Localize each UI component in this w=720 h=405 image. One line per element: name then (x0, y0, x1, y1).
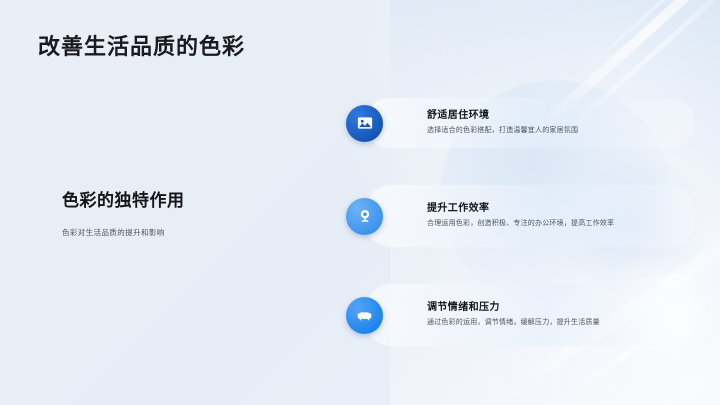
feature-card-title: 提升工作效率 (427, 202, 614, 215)
feature-card[interactable]: 提升工作效率 合理运用色彩，创造积极、专注的办公环境，提高工作效率 (365, 185, 695, 247)
feature-card-title: 调节情绪和压力 (427, 301, 600, 314)
feature-card[interactable]: 舒适居住环境 选择适合的色彩搭配，打造温馨宜人的家居氛围 (365, 98, 695, 148)
background-light-streak (561, 0, 720, 92)
section-heading: 色彩的独特作用 (62, 186, 292, 211)
feature-card-description: 通过色彩的运用，调节情绪，缓解压力，提升生活质量 (427, 318, 600, 329)
page-title: 改善生活品质的色彩 (38, 29, 245, 61)
image-icon (346, 105, 383, 142)
feature-card-description: 选择适合的色彩搭配，打造温馨宜人的家居氛围 (427, 126, 578, 137)
feature-card-text: 舒适居住环境 选择适合的色彩搭配，打造温馨宜人的家居氛围 (427, 109, 578, 137)
feature-card[interactable]: 调节情绪和压力 通过色彩的运用，调节情绪，缓解压力，提升生活质量 (365, 284, 695, 346)
desk-lamp-icon (346, 198, 383, 235)
sofa-icon (346, 297, 383, 334)
feature-card-description: 合理运用色彩，创造积极、专注的办公环境，提高工作效率 (427, 219, 614, 230)
feature-card-text: 调节情绪和压力 通过色彩的运用，调节情绪，缓解压力，提升生活质量 (427, 301, 600, 329)
feature-card-list: 舒适居住环境 选择适合的色彩搭配，打造温馨宜人的家居氛围 提升工作效率 合理运用… (365, 98, 695, 346)
left-section: 色彩的独特作用 色彩对生活品质的提升和影响 (62, 186, 292, 238)
section-subtext: 色彩对生活品质的提升和影响 (62, 227, 292, 238)
feature-card-title: 舒适居住环境 (427, 109, 578, 122)
slide-canvas: 改善生活品质的色彩 色彩的独特作用 色彩对生活品质的提升和影响 舒适居住环境 选… (0, 0, 720, 405)
feature-card-text: 提升工作效率 合理运用色彩，创造积极、专注的办公环境，提高工作效率 (427, 202, 614, 230)
